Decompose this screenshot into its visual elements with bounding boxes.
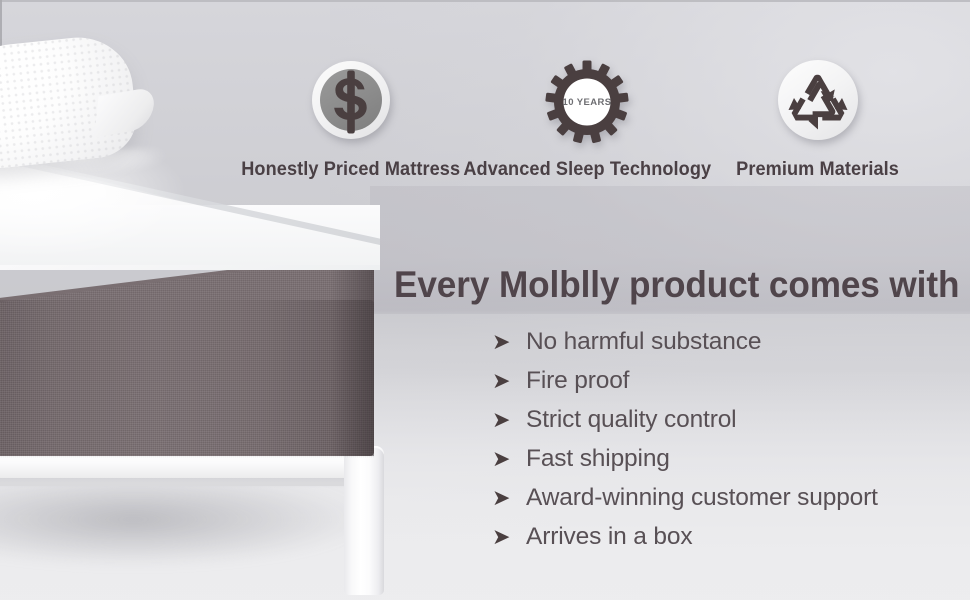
bed-frame-rail-shadow bbox=[0, 478, 360, 488]
feature-label: Honestly Priced Mattress bbox=[242, 158, 461, 181]
recycle-glyph bbox=[774, 58, 862, 146]
gear-badge-label: 10 YEARS bbox=[543, 58, 631, 146]
gear-icon: 10 YEARS bbox=[543, 58, 631, 146]
promise-text: Award-winning customer support bbox=[526, 484, 878, 512]
dollar-coin-icon bbox=[307, 58, 395, 146]
promise-text: Strict quality control bbox=[526, 406, 736, 434]
feature-honestly-priced-mattress: Honestly Priced Mattress bbox=[236, 58, 466, 181]
promise-text: Fire proof bbox=[526, 367, 629, 395]
arrow-bullet-icon: ➤ bbox=[492, 409, 526, 431]
promise-text: Fast shipping bbox=[526, 445, 670, 473]
promise-text: No harmful substance bbox=[526, 328, 761, 356]
list-item: ➤ Arrives in a box bbox=[492, 523, 962, 562]
list-item: ➤ No harmful substance bbox=[492, 328, 962, 367]
arrow-bullet-icon: ➤ bbox=[492, 487, 526, 509]
feature-label: Advanced Sleep Technology bbox=[463, 158, 711, 181]
arrow-bullet-icon: ➤ bbox=[492, 448, 526, 470]
list-item: ➤ Award-winning customer support bbox=[492, 484, 962, 523]
mattress-fabric-weave-texture bbox=[0, 250, 374, 458]
mattress-base-edge-shadow bbox=[330, 262, 374, 456]
promise-text: Arrives in a box bbox=[526, 523, 692, 551]
list-item: ➤ Fast shipping bbox=[492, 445, 962, 484]
bed-frame-leg bbox=[344, 448, 384, 595]
feature-icon-row: Honestly Priced Mattress bbox=[236, 58, 946, 190]
list-item: ➤ Fire proof bbox=[492, 367, 962, 406]
arrow-bullet-icon: ➤ bbox=[492, 331, 526, 353]
feature-premium-materials: Premium Materials bbox=[718, 58, 918, 181]
dollar-sign-glyph bbox=[307, 58, 395, 146]
recycle-icon bbox=[774, 58, 862, 146]
list-item: ➤ Strict quality control bbox=[492, 406, 962, 445]
arrow-bullet-icon: ➤ bbox=[492, 370, 526, 392]
arrow-bullet-icon: ➤ bbox=[492, 526, 526, 548]
feature-label: Premium Materials bbox=[737, 158, 900, 181]
page-title: Every Molblly product comes with our pro… bbox=[394, 264, 970, 306]
product-promise-banner: Honestly Priced Mattress bbox=[0, 0, 970, 600]
feature-advanced-sleep-technology: 10 YEARS Advanced Sleep Technology bbox=[462, 58, 712, 181]
promise-list: ➤ No harmful substance ➤ Fire proof ➤ St… bbox=[492, 328, 962, 562]
